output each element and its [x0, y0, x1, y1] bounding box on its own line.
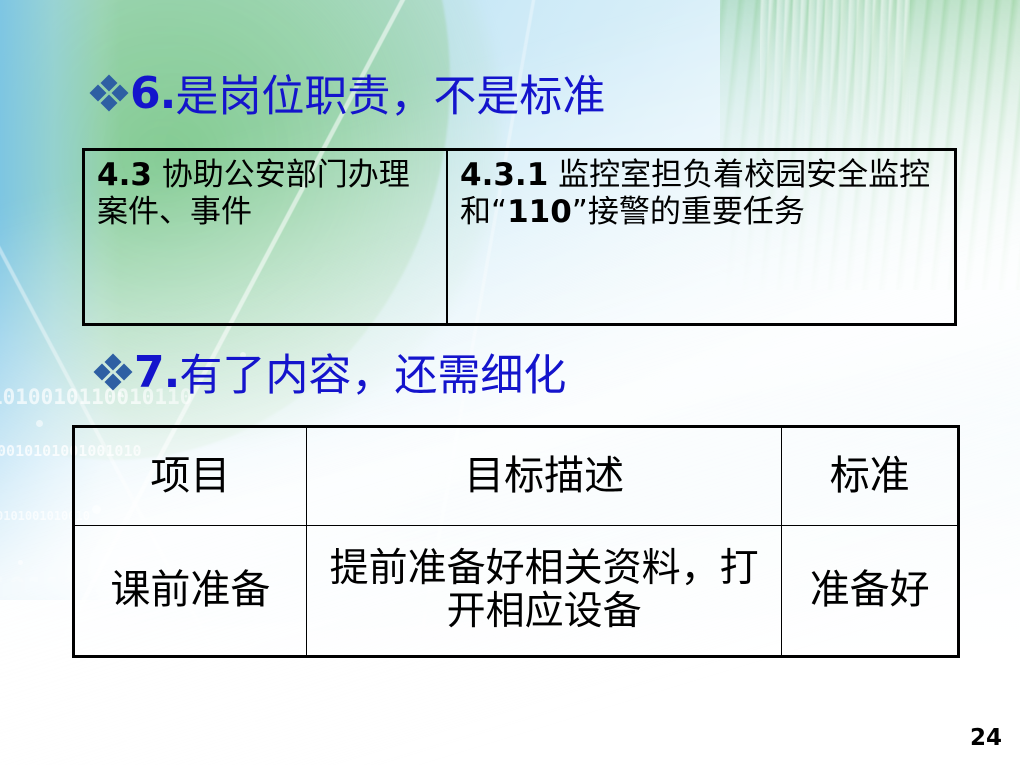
table-duty-cell-right: 4.3.1 监控室担负着校园安全监控和“110”接警的重要任务 — [448, 151, 954, 323]
slide-content: 6. 是岗位职责，不是标准 4.3 协助公安部门办理案件、事件 4.3.1 监控… — [0, 0, 1020, 765]
heading-6-number: 6. — [130, 68, 175, 119]
heading-7: 7. 有了内容，还需细化 — [96, 341, 566, 403]
table-duty: 4.3 协助公安部门办理案件、事件 4.3.1 监控室担负着校园安全监控和“11… — [82, 148, 957, 326]
table-detail-cell-standard: 准备好 — [782, 525, 959, 656]
table-detail-header-item: 项目 — [74, 427, 307, 526]
table-duty-right-code: 4.3.1 — [460, 157, 548, 193]
table-detail-header-row: 项目 目标描述 标准 — [74, 427, 959, 526]
table-detail: 项目 目标描述 标准 课前准备 提前准备好相关资料，打开相应设备 准备好 — [72, 425, 960, 658]
heading-7-number: 7. — [134, 347, 179, 398]
slide-canvas: 1010010110010110 10010101001001010 01010… — [0, 0, 1020, 765]
heading-6-text: 是岗位职责，不是标准 — [175, 62, 605, 124]
table-detail-header-goal: 目标描述 — [306, 427, 782, 526]
diamond-cluster-bullet-icon — [92, 76, 128, 110]
table-duty-cell-left: 4.3 协助公安部门办理案件、事件 — [85, 151, 448, 323]
table-duty-right-text-after: ”接警的重要任务 — [572, 194, 805, 230]
heading-6: 6. 是岗位职责，不是标准 — [92, 62, 605, 124]
table-row: 课前准备 提前准备好相关资料，打开相应设备 准备好 — [74, 525, 959, 656]
table-duty-left-code: 4.3 — [97, 157, 152, 193]
diamond-cluster-bullet-icon — [96, 355, 132, 389]
table-duty-right-emphasis: 110 — [507, 194, 572, 230]
table-detail-cell-item: 课前准备 — [74, 525, 307, 656]
table-detail-cell-goal: 提前准备好相关资料，打开相应设备 — [306, 525, 782, 656]
page-number: 24 — [970, 725, 1002, 751]
heading-7-text: 有了内容，还需细化 — [179, 341, 566, 403]
table-detail-header-standard: 标准 — [782, 427, 959, 526]
